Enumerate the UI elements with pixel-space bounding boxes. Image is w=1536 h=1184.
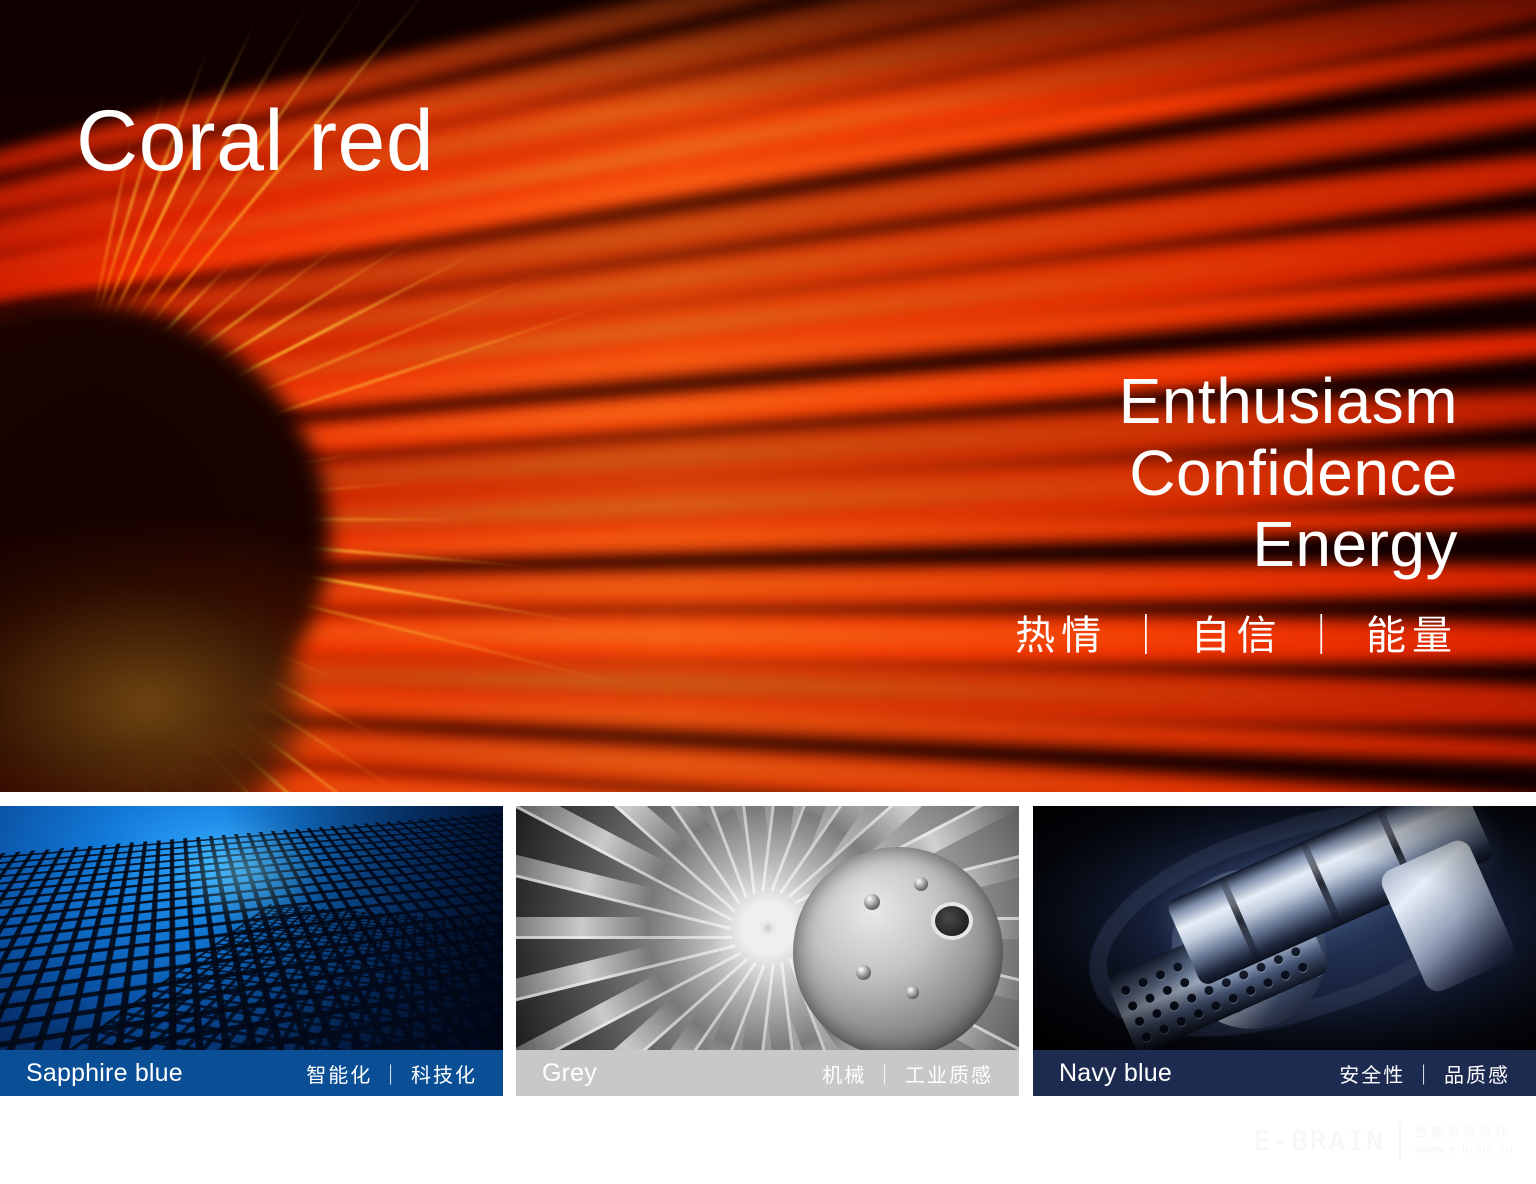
navy-blue-name-cn: 安全性 ｜ 品质感: [1339, 1059, 1510, 1088]
navy-vignette: [1033, 806, 1536, 1050]
watermark-divider: [1399, 1124, 1401, 1158]
navy-blue-machine-image: [1033, 806, 1536, 1050]
page-title: Coral red: [76, 98, 434, 184]
corner-glow: [0, 512, 460, 792]
palette-card-navy-blue[interactable]: Navy blue 安全性 ｜ 品质感: [1033, 806, 1536, 1096]
hero-coral-red-panel: Coral red Enthusiasm Confidence Energy 热…: [0, 0, 1536, 792]
watermark-text-block: 智能系统设计 www.e-brain.cn: [1415, 1125, 1514, 1156]
keyword-chinese: 热情 ｜ 自信 ｜ 能量: [1015, 603, 1458, 661]
watermark-url: www.e-brain.cn: [1415, 1142, 1514, 1157]
hub-bolt-1: [864, 894, 880, 910]
hero-keyword-block: Enthusiasm Confidence Energy 热情 ｜ 自信 ｜ 能…: [1015, 366, 1458, 661]
keyword-confidence: Confidence: [1015, 438, 1458, 510]
hub-bolt-4: [906, 986, 919, 999]
grey-label-bar: Grey 机械 ｜ 工业质感: [516, 1050, 1019, 1096]
navy-blue-name-en: Navy blue: [1059, 1059, 1172, 1088]
hub-port: [931, 902, 973, 940]
sapphire-blue-label-bar: Sapphire blue 智能化 ｜ 科技化: [0, 1050, 503, 1096]
grey-turbine-image: [516, 806, 1019, 1050]
sapphire-blue-name-cn: 智能化 ｜ 科技化: [306, 1059, 477, 1088]
hub-bolt-2: [914, 877, 928, 891]
color-scheme-slide: Coral red Enthusiasm Confidence Energy 热…: [0, 0, 1536, 1184]
palette-panel-row: Sapphire blue 智能化 ｜ 科技化 Grey 机械 ｜ 工业质感: [0, 806, 1536, 1096]
sapphire-blue-image: [0, 806, 503, 1050]
turbine-hub-cone: [793, 847, 1003, 1050]
watermark-brand: E-BRAIN: [1254, 1126, 1385, 1157]
hub-bolt-3: [856, 965, 871, 980]
grey-name-cn: 机械 ｜ 工业质感: [822, 1059, 993, 1088]
watermark-tagline: 智能系统设计: [1415, 1125, 1514, 1141]
palette-card-sapphire-blue[interactable]: Sapphire blue 智能化 ｜ 科技化: [0, 806, 503, 1096]
sapphire-blue-name-en: Sapphire blue: [26, 1059, 183, 1088]
navy-blue-label-bar: Navy blue 安全性 ｜ 品质感: [1033, 1050, 1536, 1096]
watermark: E-BRAIN 智能系统设计 www.e-brain.cn: [1254, 1124, 1514, 1158]
mesh-shadow-overlay: [0, 806, 503, 1050]
grey-name-en: Grey: [542, 1059, 597, 1088]
keyword-enthusiasm: Enthusiasm: [1015, 366, 1458, 438]
keyword-energy: Energy: [1015, 509, 1458, 581]
palette-card-grey[interactable]: Grey 机械 ｜ 工业质感: [516, 806, 1019, 1096]
